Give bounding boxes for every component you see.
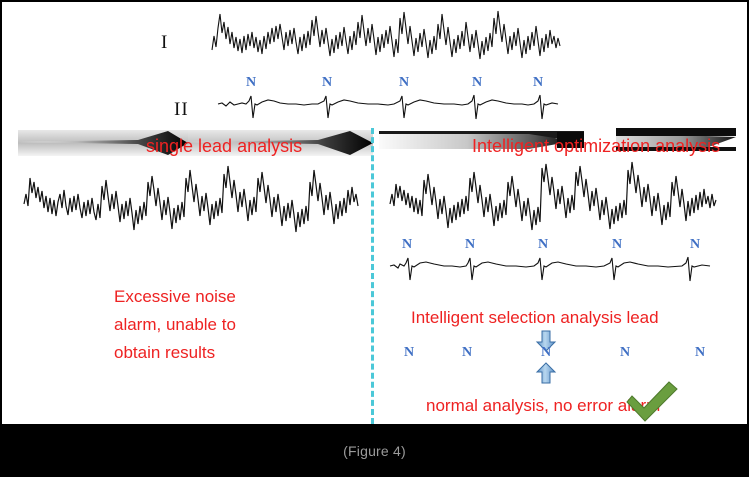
lead-label-I: I (161, 32, 168, 54)
beat-label-n: N (404, 345, 414, 361)
panel-divider (371, 128, 374, 424)
beat-label-n: N (533, 75, 543, 91)
beat-label-n: N (612, 237, 622, 253)
ecg-trace-lower-left-noisy (22, 160, 360, 240)
result-line-3: obtain results (114, 339, 294, 367)
result-line-1: Excessive noise (114, 283, 294, 311)
figure-caption: (Figure 4) (0, 443, 749, 459)
beat-label-n: N (690, 237, 700, 253)
figure-root: I II N N N N N (0, 0, 749, 477)
left-panel-result-text: Excessive noise alarm, unable to obtain … (114, 283, 294, 367)
figure-card: I II N N N N N (2, 2, 747, 424)
right-panel-selection-label: Intelligent selection analysis lead (411, 308, 659, 328)
ecg-trace-lead-II-top (218, 90, 562, 124)
blue-arrow-up-icon (535, 362, 557, 384)
beat-label-n: N (541, 345, 551, 361)
result-line-2: alarm, unable to (114, 311, 294, 339)
beat-label-n: N (462, 345, 472, 361)
banner-label-single-lead: single lead analysis (146, 136, 302, 157)
beat-label-n: N (538, 237, 548, 253)
ecg-trace-lead-I-top (210, 6, 562, 80)
beat-label-n: N (620, 345, 630, 361)
ecg-trace-lower-right-clean (390, 252, 714, 286)
beat-label-n: N (399, 75, 409, 91)
green-check-icon (624, 380, 680, 422)
beat-label-n: N (402, 237, 412, 253)
ecg-trace-lower-right-noisy (388, 158, 718, 238)
beat-label-n: N (695, 345, 705, 361)
lead-label-II: II (174, 99, 189, 121)
beat-label-n: N (246, 75, 256, 91)
beat-label-n: N (322, 75, 332, 91)
banner-label-intelligent-optimization: Intelligent optimization analysis (472, 136, 720, 157)
beat-label-n: N (472, 75, 482, 91)
beat-label-n: N (465, 237, 475, 253)
